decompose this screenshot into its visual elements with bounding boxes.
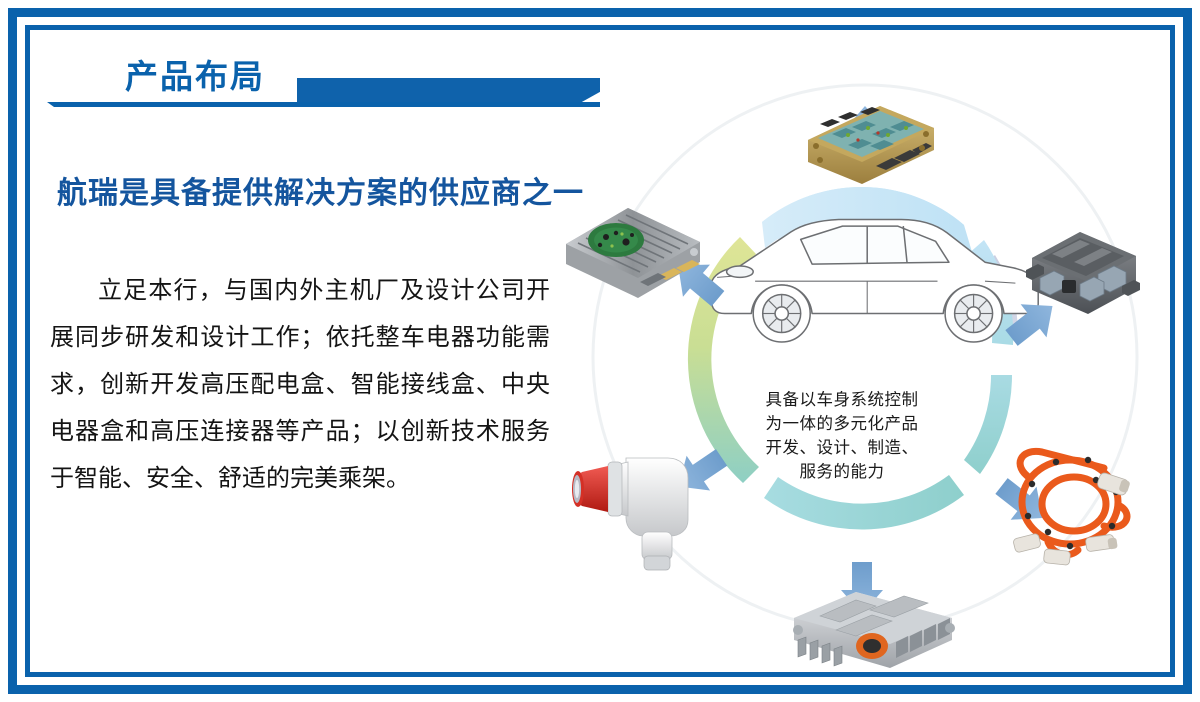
header: 产品布局 — [47, 58, 600, 116]
diagram-center-caption: 具备以车身系统控制 为一体的多元化产品 开发、设计、制造、 服务的能力 — [742, 388, 942, 484]
product-hv-connector — [572, 458, 688, 570]
sedan-car-outline — [711, 219, 1039, 342]
product-power-distribution-box — [793, 592, 955, 668]
product-metal-junction-box — [1026, 232, 1140, 314]
center-caption-line-4: 服务的能力 — [742, 460, 942, 484]
header-underline — [47, 102, 600, 107]
product-pcb-relay-module — [808, 106, 934, 184]
page-title: 产品布局 — [125, 58, 265, 96]
product-finned-controller-module — [566, 208, 700, 298]
center-caption-line-1: 具备以车身系统控制 — [742, 388, 942, 412]
slide-root: 产品布局 航瑞是具备提供解决方案的供应商之一 立足本行，与国内外主机厂及设计公司… — [0, 0, 1200, 702]
center-caption-line-3: 开发、设计、制造、 — [742, 436, 942, 460]
section-subtitle: 航瑞是具备提供解决方案的供应商之一 — [57, 168, 584, 212]
center-caption-line-2: 为一体的多元化产品 — [742, 412, 942, 436]
body-paragraph: 立足本行，与国内外主机厂及设计公司开展同步研发和设计工作；依托整车电器功能需求，… — [50, 268, 550, 503]
product-layout-diagram — [540, 40, 1190, 670]
ring-band-lower-right — [964, 375, 1012, 474]
